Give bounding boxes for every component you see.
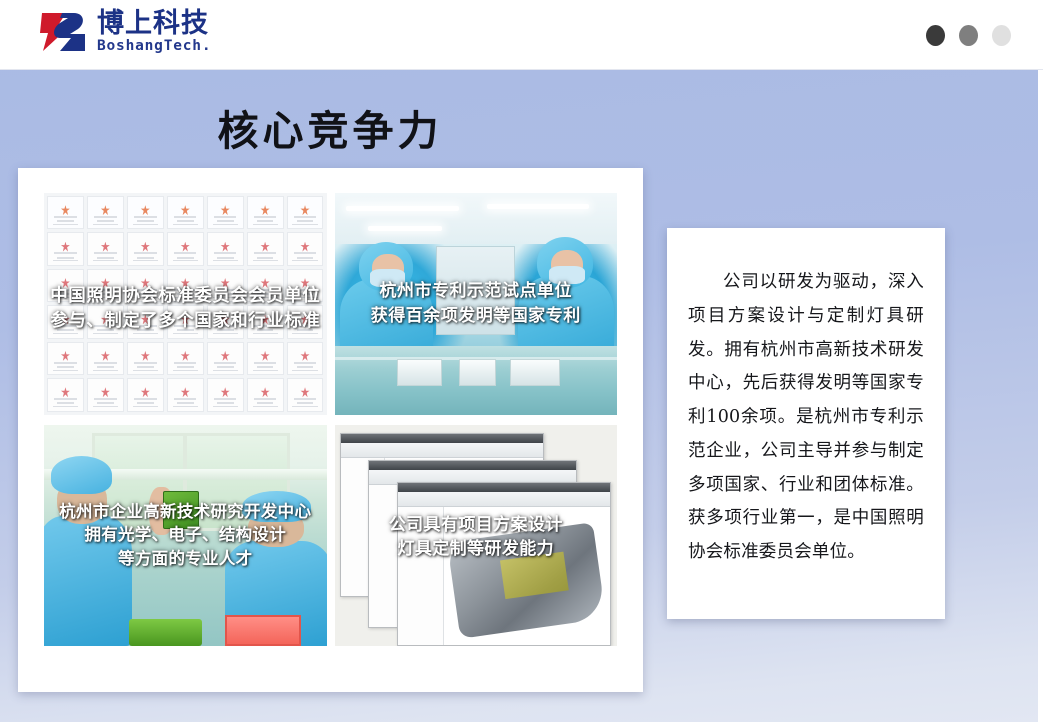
brand-name-cn: 博上科技	[97, 10, 211, 38]
brand-name-en: BoshangTech.	[97, 39, 211, 55]
gallery-grid: 中国照明协会标准委员会会员单位 参与、制定了多个国家和行业标准	[44, 193, 617, 646]
page-title: 核心竞争力	[0, 97, 660, 157]
description-text: 公司以研发为驱动，深入项目方案设计与定制灯具研发。拥有杭州市高新技术研发中心，先…	[688, 266, 924, 570]
dot-active[interactable]	[926, 25, 945, 46]
dot-second[interactable]	[959, 25, 978, 46]
certificate-wall	[44, 193, 327, 415]
led-board	[163, 491, 200, 529]
tile-research-lab[interactable]: 杭州市企业高新技术研究开发中心 拥有光学、电子、结构设计 等方面的专业人才	[44, 425, 327, 647]
led-components	[129, 619, 202, 646]
brand-text: 博上科技 BoshangTech.	[97, 10, 211, 55]
site-header: 博上科技 BoshangTech.	[0, 0, 1043, 70]
gallery-card: 中国照明协会标准委员会会员单位 参与、制定了多个国家和行业标准	[18, 168, 643, 692]
pagination-dots[interactable]	[926, 25, 1011, 46]
right-edge-strip	[1038, 70, 1043, 722]
tile-certificates[interactable]: 中国照明协会标准委员会会员单位 参与、制定了多个国家和行业标准	[44, 193, 327, 415]
equipment	[436, 246, 515, 335]
researcher-left	[44, 456, 132, 646]
dot-third[interactable]	[992, 25, 1011, 46]
cad-window	[397, 482, 612, 646]
tile-cleanroom[interactable]: 杭州市专利示范试点单位 获得百余项发明等国家专利	[335, 193, 618, 415]
ceiling	[335, 193, 618, 244]
tile-cad-design[interactable]: 公司具有项目方案设计 灯具定制等研发能力	[335, 425, 618, 647]
slide-page: 博上科技 BoshangTech. 核心竞争力	[0, 0, 1043, 722]
logo-mark-icon	[40, 10, 88, 55]
red-crate	[225, 615, 301, 646]
description-card: 公司以研发为驱动，深入项目方案设计与定制灯具研发。拥有杭州市高新技术研发中心，先…	[667, 228, 945, 619]
brand-logo[interactable]: 博上科技 BoshangTech.	[40, 10, 211, 55]
